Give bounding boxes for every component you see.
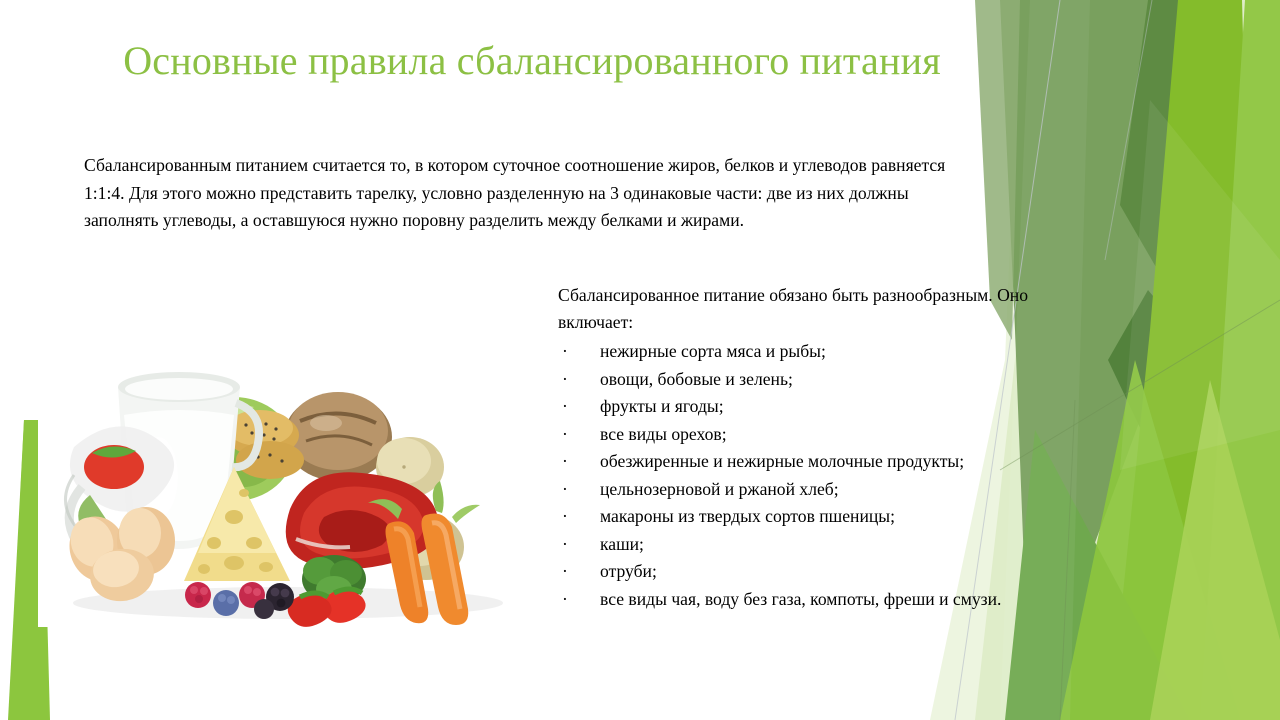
list-item-label: все виды орехов; bbox=[600, 424, 727, 444]
deco-shape-bright-column bbox=[1110, 0, 1262, 720]
intro-block: Сбалансированным питанием считается то, … bbox=[84, 152, 960, 235]
list-item: · фрукты и ягоды; bbox=[558, 393, 1078, 421]
bullet-icon: · bbox=[562, 503, 568, 531]
deco-shape-left-spike-tip bbox=[20, 420, 33, 500]
bullet-icon: · bbox=[562, 531, 568, 559]
deco-hairline-2 bbox=[1105, 0, 1152, 260]
list-item-label: все виды чая, воду без газа, компоты, фр… bbox=[600, 589, 1001, 609]
list-item-label: обезжиренные и нежирные молочные продукт… bbox=[600, 451, 964, 471]
deco-shape-lighter-lower bbox=[1150, 380, 1280, 720]
bullet-icon: · bbox=[562, 586, 568, 614]
list-item: · каши; bbox=[558, 531, 1078, 559]
list-item-label: отруби; bbox=[600, 561, 657, 581]
bullet-icon: · bbox=[562, 476, 568, 504]
list-item-label: фрукты и ягоды; bbox=[600, 396, 724, 416]
bullet-icon: · bbox=[562, 448, 568, 476]
deco-shape-mid-lower-2 bbox=[1060, 360, 1240, 720]
page-title: Основные правила сбалансированного питан… bbox=[96, 34, 968, 88]
list-item-label: цельнозерновой и ржаной хлеб; bbox=[600, 479, 839, 499]
food-photo: Фотография продуктов: кувшин молока, яйц… bbox=[38, 327, 550, 627]
list-item: · обезжиренные и нежирные молочные проду… bbox=[558, 448, 1078, 476]
list-item-label: овощи, бобовые и зелень; bbox=[600, 369, 793, 389]
bullet-icon: · bbox=[562, 421, 568, 449]
deco-shape-overlay-b bbox=[1120, 100, 1280, 470]
list-item-label: нежирные сорта мяса и рыбы; bbox=[600, 341, 826, 361]
list-lead-text: Сбалансированное питание обязано быть ра… bbox=[558, 282, 1078, 336]
intro-paragraph: Сбалансированным питанием считается то, … bbox=[84, 152, 960, 235]
list-item: · макароны из твердых сортов пшеницы; bbox=[558, 503, 1078, 531]
slide: Основные правила сбалансированного питан… bbox=[0, 0, 1280, 720]
list-item: · нежирные сорта мяса и рыбы; bbox=[558, 338, 1078, 366]
title-block: Основные правила сбалансированного питан… bbox=[96, 34, 968, 88]
list-item-label: каши; bbox=[600, 534, 644, 554]
list-block: Сбалансированное питание обязано быть ра… bbox=[558, 282, 1078, 613]
list-item: · все виды орехов; bbox=[558, 421, 1078, 449]
deco-shape-dark-wedge bbox=[1120, 0, 1205, 300]
bullet-icon: · bbox=[562, 338, 568, 366]
food-list: · нежирные сорта мяса и рыбы; · овощи, б… bbox=[558, 338, 1078, 613]
list-item: · овощи, бобовые и зелень; bbox=[558, 366, 1078, 394]
bullet-icon: · bbox=[562, 558, 568, 586]
list-item-label: макароны из твердых сортов пшеницы; bbox=[600, 506, 895, 526]
bullet-icon: · bbox=[562, 366, 568, 394]
deco-shape-light-strip bbox=[1200, 0, 1280, 720]
deco-shape-dark-wedge-2 bbox=[1108, 290, 1215, 470]
list-item: · цельнозерновой и ржаной хлеб; bbox=[558, 476, 1078, 504]
bullet-icon: · bbox=[562, 393, 568, 421]
list-item: · все виды чая, воду без газа, компоты, … bbox=[558, 586, 1078, 614]
list-item: · отруби; bbox=[558, 558, 1078, 586]
